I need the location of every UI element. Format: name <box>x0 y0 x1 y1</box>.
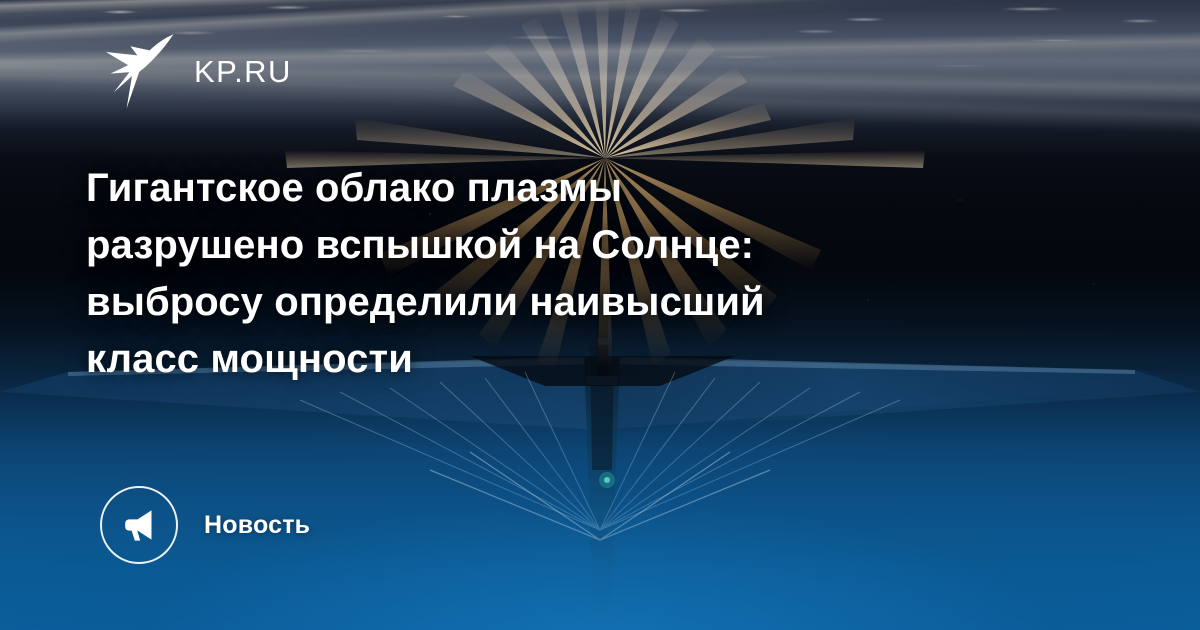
article-share-card: KP.RU Гигантское облако плазмы разрушено… <box>0 0 1200 630</box>
swallow-bird-icon <box>104 32 176 110</box>
headline-line: выбросу определили наивысший <box>86 274 1066 331</box>
page-title: Гигантское облако плазмы разрушено вспыш… <box>86 160 1066 388</box>
headline-line: разрушено вспышкой на Солнце: <box>86 217 1066 274</box>
brand-name: KP.RU <box>194 56 292 87</box>
headline-line: класс мощности <box>86 331 1066 388</box>
site-brand[interactable]: KP.RU <box>104 32 292 110</box>
category-badge[interactable]: Новость <box>100 486 310 564</box>
megaphone-icon <box>120 506 158 544</box>
megaphone-icon-circle <box>100 486 178 564</box>
category-badge-label: Новость <box>204 513 310 538</box>
headline-line: Гигантское облако плазмы <box>86 160 1066 217</box>
